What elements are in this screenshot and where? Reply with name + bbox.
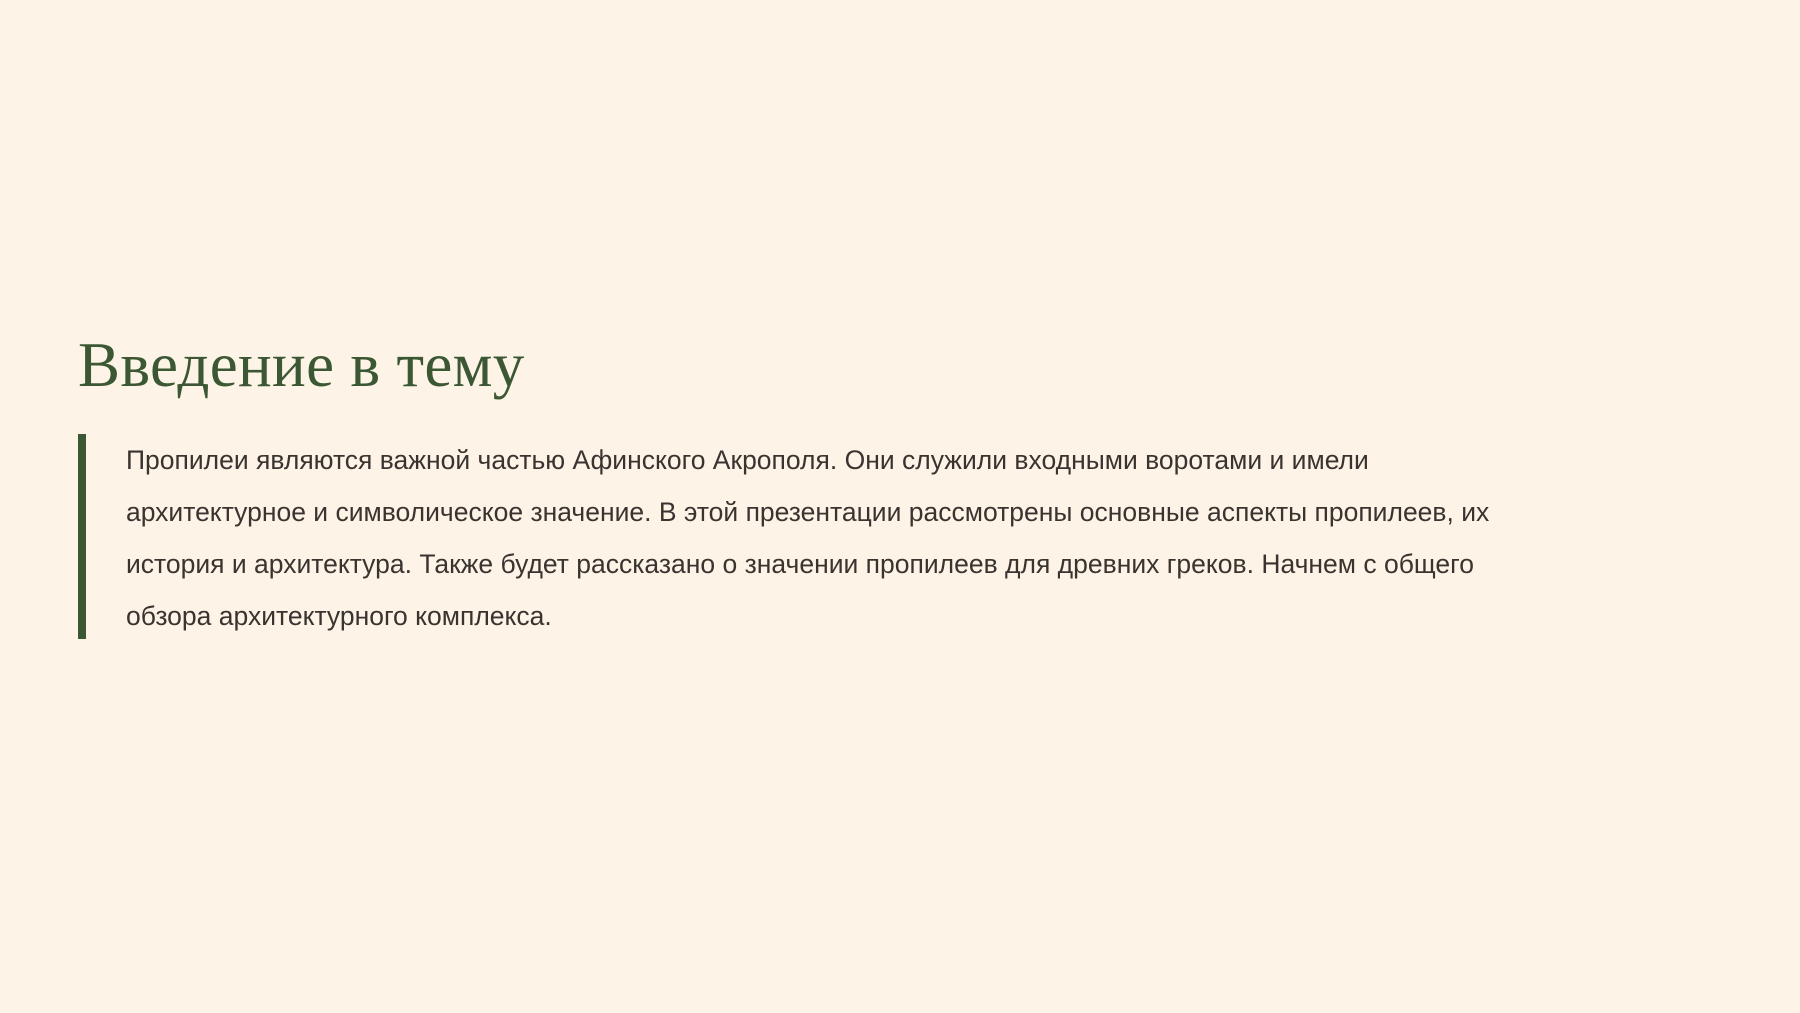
presentation-slide: Введение в тему Пропилеи являются важной… — [0, 0, 1800, 1013]
slide-content-container: Введение в тему Пропилеи являются важной… — [78, 330, 1718, 642]
body-text-block: Пропилеи являются важной частью Афинског… — [78, 434, 1718, 642]
accent-bar — [78, 434, 86, 639]
page-title: Введение в тему — [78, 330, 1718, 401]
body-paragraph: Пропилеи являются важной частью Афинског… — [126, 434, 1526, 642]
